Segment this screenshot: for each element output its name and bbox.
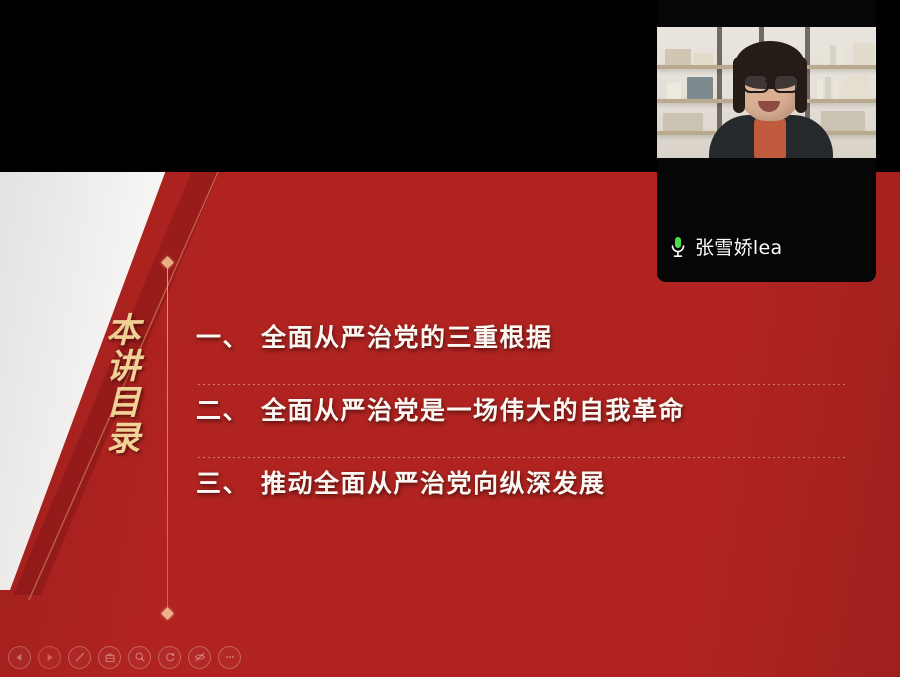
divider-diamond-bottom (161, 607, 174, 620)
agenda-item-text-3: 三、推动全面从严治党向纵深发展 (196, 464, 606, 500)
agenda-item-number-2: 二、 (196, 391, 249, 427)
agenda-item-label-3: 推动全面从严治党向纵深发展 (261, 469, 606, 498)
agenda-item-number-1: 一、 (196, 318, 249, 354)
previous-slide-button[interactable] (8, 646, 31, 669)
agenda-item-label-2: 全面从严治党是一场伟大的自我革命 (261, 396, 685, 425)
agenda-list: 一、全面从严治党的三重根据 二、全面从严治党是一场伟大的自我革命 三、推动全面从… (196, 312, 856, 531)
video-background-scene (657, 27, 876, 158)
microphone-icon (670, 236, 686, 258)
agenda-item: 二、全面从严治党是一场伟大的自我革命 (196, 385, 856, 458)
more-options-button[interactable] (218, 646, 241, 669)
refresh-button[interactable] (158, 646, 181, 669)
agenda-item-label-1: 全面从严治党的三重根据 (261, 323, 553, 352)
agenda-item-text-2: 二、全面从严治党是一场伟大的自我革命 (196, 391, 685, 427)
agenda-item-number-3: 三、 (196, 464, 249, 500)
participant-video-feed (657, 27, 876, 158)
participant-name-row: 张雪娇lea (670, 233, 782, 260)
player-toolbar (0, 637, 260, 677)
agenda-item: 一、全面从严治党的三重根据 (196, 312, 856, 385)
slide-vertical-title-text: 本讲目录 (97, 312, 141, 456)
eye-off-button[interactable] (188, 646, 211, 669)
agenda-item-text-1: 一、全面从严治党的三重根据 (196, 318, 553, 354)
toolbox-button[interactable] (98, 646, 121, 669)
vertical-divider-line (167, 264, 168, 614)
slide-vertical-title: 本讲目录 (86, 312, 152, 461)
screen-root: 本讲目录 一、全面从严治党的三重根据 二、全面从严治党是一场伟大的自我革命 (0, 0, 900, 677)
participant-name-label: 张雪娇lea (695, 233, 782, 260)
zoom-search-button[interactable] (128, 646, 151, 669)
play-button[interactable] (38, 646, 61, 669)
participant-video-panel[interactable]: 张雪娇lea (657, 0, 876, 282)
agenda-item: 三、推动全面从严治党向纵深发展 (196, 458, 856, 531)
annotate-pen-button[interactable] (68, 646, 91, 669)
